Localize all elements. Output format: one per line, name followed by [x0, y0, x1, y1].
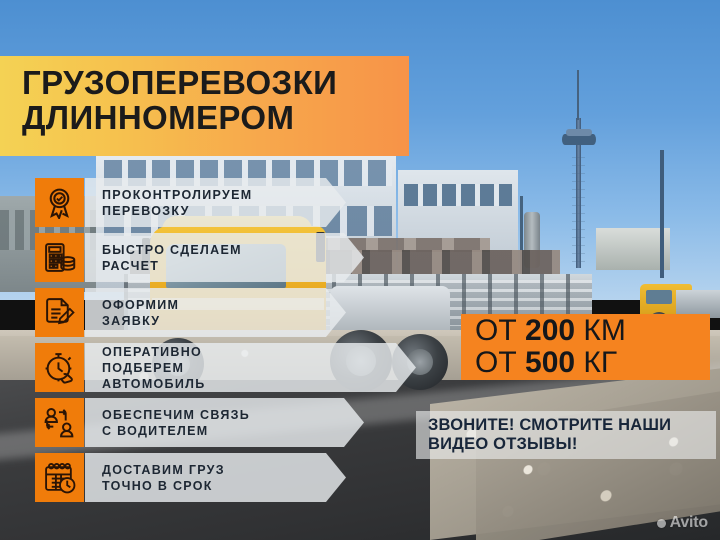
avito-watermark: Avito: [657, 514, 708, 532]
stopwatch-hand-icon: [35, 343, 84, 392]
weight-prefix: ОТ: [475, 346, 517, 379]
award-badge-icon: [35, 178, 84, 227]
document-pen-icon: [35, 288, 84, 337]
feature-label: ОБЕСПЕЧИМ СВЯЗЬ С ВОДИТЕЛЕМ: [85, 398, 364, 447]
second-truck-window: [646, 290, 672, 304]
feature-item-control-shipment[interactable]: ПРОКОНТРОЛИРУЕМ ПЕРЕВОЗКУ: [0, 178, 420, 233]
feature-item-fast-calculation[interactable]: БЫСТРО СДЕЛАЕМ РАСЧЕТ: [0, 233, 420, 288]
avito-wordmark: Avito: [670, 514, 708, 532]
feature-item-process-order[interactable]: ОФОРМИМ ЗАЯВКУ: [0, 288, 420, 343]
avito-logo-icon: [657, 519, 666, 528]
page-title: ГРУЗОПЕРЕВОЗКИ ДЛИННОМЕРОМ: [0, 56, 409, 136]
distance-unit: КМ: [583, 314, 625, 347]
weight-unit: КГ: [583, 346, 617, 379]
minimum-distance-line: ОТ 200 КМ: [475, 315, 710, 347]
feature-label: БЫСТРО СДЕЛАЕМ РАСЧЕТ: [85, 233, 364, 282]
cta-text: ЗВОНИТЕ! СМОТРИТЕ НАШИ ВИДЕО ОТЗЫВЫ!: [428, 416, 671, 455]
site-shed: [596, 228, 670, 270]
feature-item-on-time-delivery[interactable]: ДОСТАВИМ ГРУЗ ТОЧНО В СРОК: [0, 453, 420, 508]
advertisement-banner: ГРУЗОПЕРЕВОЗКИ ДЛИННОМЕРОМ ПРОКОНТРОЛИРУ…: [0, 0, 720, 540]
weight-value: 500: [525, 346, 575, 379]
feature-item-quick-vehicle[interactable]: ОПЕРАТИВНО ПОДБЕРЕМ АВТОМОБИЛЬ: [0, 343, 420, 398]
distance-prefix: ОТ: [475, 314, 517, 347]
two-people-icon: [35, 398, 84, 447]
calendar-clock-icon: [35, 453, 84, 502]
feature-item-driver-contact[interactable]: ОБЕСПЕЧИМ СВЯЗЬ С ВОДИТЕЛЕМ: [0, 398, 420, 453]
antenna-lattice: [572, 150, 585, 268]
minimum-weight-line: ОТ 500 КГ: [475, 347, 710, 379]
distance-value: 200: [525, 314, 575, 347]
feature-list: ПРОКОНТРОЛИРУЕМ ПЕРЕВОЗКУ БЫСТРО СДЕЛАЕМ…: [0, 178, 420, 508]
feature-label: ОФОРМИМ ЗАЯВКУ: [85, 288, 346, 337]
header-banner: ГРУЗОПЕРЕВОЗКИ ДЛИННОМЕРОМ: [0, 56, 409, 156]
feature-label: ОПЕРАТИВНО ПОДБЕРЕМ АВТОМОБИЛЬ: [85, 343, 416, 392]
antenna-platform: [562, 134, 596, 145]
call-to-action-banner[interactable]: ЗВОНИТЕ! СМОТРИТЕ НАШИ ВИДЕО ОТЗЫВЫ!: [416, 411, 716, 459]
calculator-coins-icon: [35, 233, 84, 282]
feature-label: ДОСТАВИМ ГРУЗ ТОЧНО В СРОК: [85, 453, 346, 502]
utility-pole: [660, 150, 664, 278]
right-building-windows: [404, 184, 512, 206]
feature-label: ПРОКОНТРОЛИРУЕМ ПЕРЕВОЗКУ: [85, 178, 346, 227]
price-badge: ОТ 200 КМ ОТ 500 КГ: [461, 314, 710, 380]
